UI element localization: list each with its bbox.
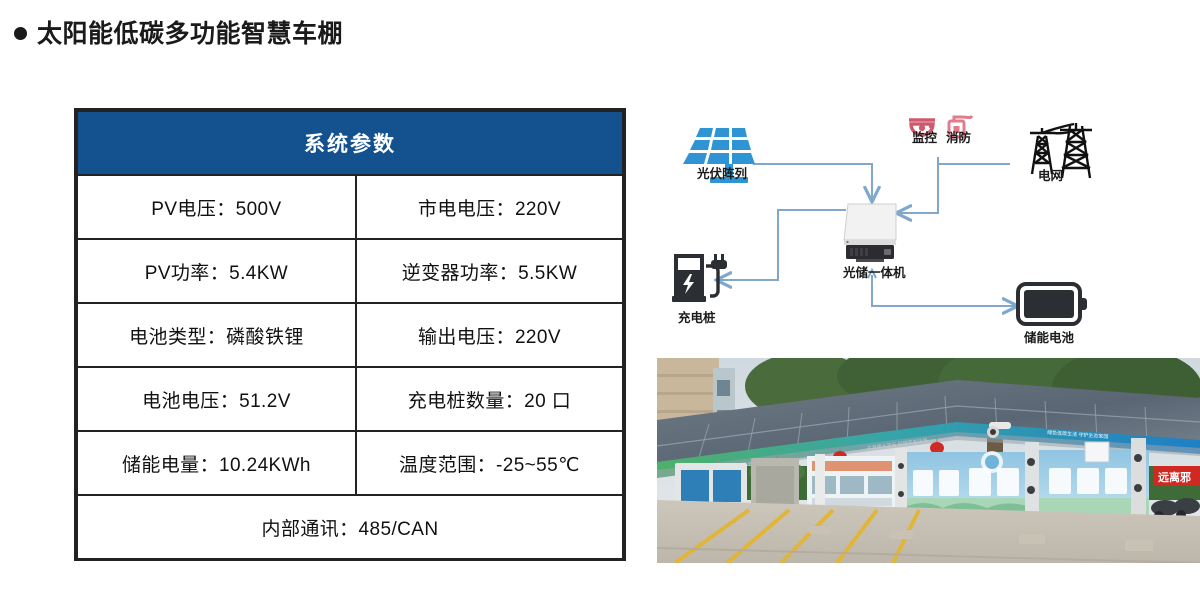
label-storage-battery: 储能电池 [1023, 330, 1075, 345]
table-row: 电池类型：磷酸铁锂 输出电压：220V [77, 303, 623, 367]
storage-battery-icon [1018, 284, 1087, 324]
table-row: 电池电压：51.2V 充电桩数量：20 口 [77, 367, 623, 431]
page-title-text: 太阳能低碳多功能智慧车棚 [37, 14, 343, 50]
table-row: 储能电量：10.24KWh 温度范围：-25~55℃ [77, 431, 623, 495]
cell-battery-voltage: 电池电压：51.2V [77, 367, 356, 431]
table-row: PV功率：5.4KW 逆变器功率：5.5KW [77, 239, 623, 303]
cell-inverter-power: 逆变器功率：5.5KW [356, 239, 623, 303]
cell-pv-power: PV功率：5.4KW [77, 239, 356, 303]
connector-inverter-to-charger [718, 210, 846, 280]
label-power-grid: 电网 [1038, 168, 1063, 183]
table-header-row: 系统参数 [77, 111, 623, 175]
bullet-icon [14, 27, 27, 40]
slide-page: 太阳能低碳多功能智慧车棚 系统参数 PV电压：500V 市电电压：220V PV… [0, 0, 1200, 605]
hybrid-inverter-icon [844, 204, 896, 262]
table-row: 内部通讯：485/CAN [77, 495, 623, 559]
cell-storage-capacity: 储能电量：10.24KWh [77, 431, 356, 495]
cell-mains-voltage: 市电电压：220V [356, 175, 623, 239]
ev-charging-pile-icon [672, 254, 727, 302]
cell-pv-voltage: PV电压：500V [77, 175, 356, 239]
cell-internal-comm: 内部通讯：485/CAN [77, 495, 623, 559]
table-header-cell: 系统参数 [77, 111, 623, 175]
carport-photo: 绿色低碳生活 守护生态家园 共享碧水蓝天 低碳节能环保 绿色低碳生活 守护生态家… [657, 358, 1200, 563]
cell-battery-type: 电池类型：磷酸铁锂 [77, 303, 356, 367]
svg-text:远离邪: 远离邪 [1158, 470, 1191, 484]
cell-temp-range: 温度范围：-25~55℃ [356, 431, 623, 495]
label-monitoring: 监控 [912, 130, 938, 145]
page-title: 太阳能低碳多功能智慧车棚 [14, 14, 343, 50]
system-parameters-table: 系统参数 PV电压：500V 市电电压：220V PV功率：5.4KW 逆变器功… [74, 108, 626, 561]
label-hybrid-inverter: 光储一体机 [842, 265, 906, 280]
connector-pv-to-inverter [753, 164, 872, 200]
photo-red-banner: 远离邪 [1153, 466, 1200, 486]
connector-grid-to-inverter [898, 164, 1010, 213]
label-fire-protection: 消防 [946, 130, 972, 145]
table-row: PV电压：500V 市电电压：220V [77, 175, 623, 239]
cell-charger-count: 充电桩数量：20 口 [356, 367, 623, 431]
cell-output-voltage: 输出电压：220V [356, 303, 623, 367]
system-architecture-diagram: 光伏阵列 监控 消防 [650, 100, 1200, 350]
label-charging-pile: 充电桩 [678, 310, 716, 325]
label-pv-array: 光伏阵列 [696, 166, 747, 181]
